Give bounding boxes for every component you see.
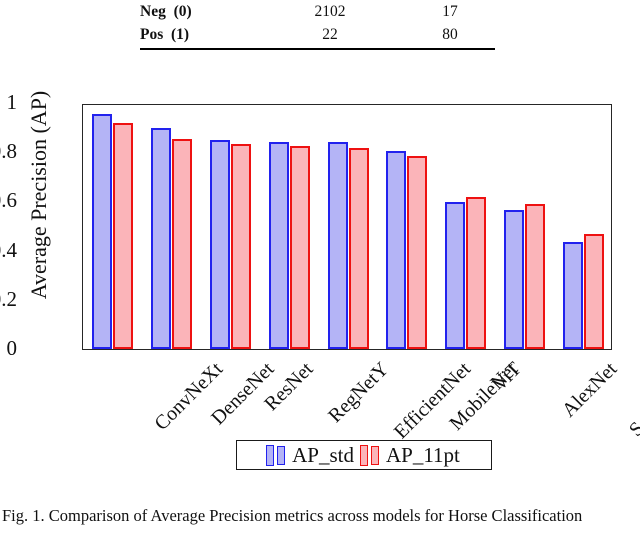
y-axis-label: Average Precision (AP) [26,70,52,320]
bar-ap-std [386,151,406,349]
legend-swatch [277,446,285,465]
y-axis-tick-label: 0.6 [0,190,17,211]
matrix-row-label: Pos (1) [140,23,260,46]
matrix-bottom-rule [140,48,495,50]
bar-ap-std [269,142,289,349]
plot-area [82,104,612,350]
bar-ap-std [210,140,230,349]
bar-ap-11pt [407,156,427,349]
bar-ap-11pt [231,144,251,349]
legend-label: AP_11pt [382,445,462,466]
bar-ap-11pt [113,123,133,349]
bar-ap-std [328,142,348,349]
figure-number: Fig. 1. [2,506,45,525]
bar-ap-11pt [584,234,604,349]
legend-swatch [360,445,368,466]
bar-group-container [83,105,611,349]
matrix-cell-col2: 80 [400,23,500,46]
x-axis-label-regnety: RegNetY [324,358,394,428]
bar-ap-11pt [466,197,486,349]
bar-ap-std [151,128,171,349]
chart-legend: AP_stdAP_11pt [236,440,492,470]
legend-entry: AP_std [266,445,356,466]
caption-text: Comparison of Average Precision metrics … [49,506,583,525]
y-axis-tick-label: 0 [0,338,17,359]
y-axis-tick-label: 0.8 [0,141,17,162]
matrix-row-label: Neg (0) [140,0,260,23]
confusion-matrix-table: Neg (0)210217Pos (1)2280 [140,0,500,52]
bar-ap-std [504,210,524,349]
x-axis-label-alexnet: AlexNet [558,358,622,422]
legend-swatch [266,445,274,466]
x-axis-label-squeezenet: SqueezeNet [625,358,640,442]
figure-caption: Fig. 1. Comparison of Average Precision … [2,505,638,526]
bar-ap-std [445,202,465,349]
legend-label: AP_std [288,445,356,466]
matrix-row: Neg (0)210217 [140,0,500,23]
y-axis-tick-label: 0.4 [0,240,17,261]
bar-ap-std [563,242,583,350]
legend-entry: AP_11pt [360,445,462,466]
matrix-cell-col1: 2102 [260,0,400,23]
y-axis-tick-label: 0.2 [0,289,17,310]
matrix-cell-col1: 22 [260,23,400,46]
matrix-grid: Neg (0)210217Pos (1)2280 [140,0,500,46]
bar-ap-11pt [349,148,369,349]
matrix-cell-col2: 17 [400,0,500,23]
legend-swatch [371,446,379,465]
bar-ap-std [92,114,112,349]
y-axis-tick-label: 1 [0,92,17,113]
bar-ap-11pt [290,146,310,349]
matrix-row: Pos (1)2280 [140,23,500,46]
bar-ap-11pt [172,139,192,349]
bar-ap-11pt [525,204,545,349]
figure-container: Average Precision (AP) 00.20.40.60.81 Co… [0,60,640,490]
